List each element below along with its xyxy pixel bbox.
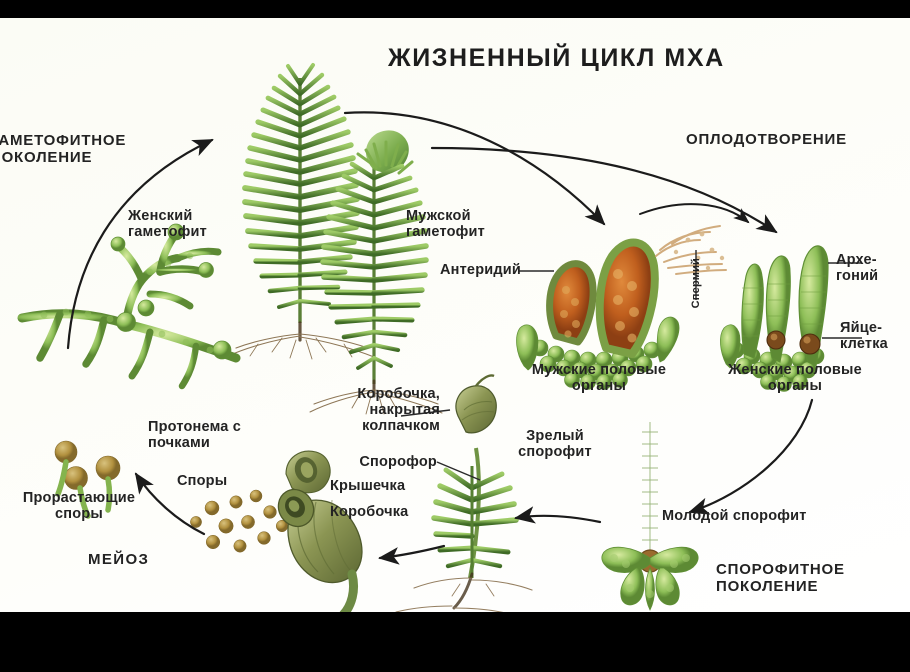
sporangium-capsule — [272, 451, 362, 612]
arrow-protonema-to-female-gametophyte — [68, 140, 212, 348]
label-capsule: Коробочка — [330, 504, 408, 520]
egg-cell-left — [767, 331, 785, 349]
label-antheridium: Антеридий — [440, 262, 521, 278]
label-protonema-with-buds: Протонема с почками — [148, 419, 241, 451]
antheridium-center — [600, 243, 655, 354]
arrow-mature-sporophyte-to-capsule — [380, 546, 444, 558]
label-germinating-spores: Прорастающие споры — [4, 490, 154, 522]
label-mature-sporophyte: Зрелый спорофит — [500, 428, 610, 460]
protonema — [22, 224, 236, 386]
egg-cell-right — [800, 334, 820, 354]
operculum-lid — [286, 451, 330, 493]
diagram-canvas: ЖИЗНЕННЫЙ ЦИКЛ МХА ГАМЕТОФИТНОЕ ПОКОЛЕНИ… — [0, 18, 910, 612]
label-female-gametophyte: Женский гаметофит — [128, 208, 207, 240]
label-operculum: Крышечка — [330, 478, 405, 494]
label-young-sporophyte: Молодой спорофит — [662, 508, 807, 524]
heading-gametophyte-generation: ГАМЕТОФИТНОЕ ПОКОЛЕНИЕ — [0, 133, 126, 167]
archegonium-right — [799, 246, 828, 366]
label-egg-cell: Яйце- клетка — [840, 320, 888, 352]
archegonium-left — [742, 264, 764, 358]
arrow-young-to-mature-sporophyte — [516, 516, 600, 522]
heading-fertilization: ОПЛОДОТВОРЕНИЕ — [686, 132, 847, 149]
heading-sporophyte-generation: СПОРОФИТНОЕ ПОКОЛЕНИЕ — [716, 562, 845, 596]
page-title: ЖИЗНЕННЫЙ ЦИКЛ МХА — [388, 44, 725, 72]
spore-scatter — [190, 490, 291, 552]
arrow-female-organs-to-young-sporophyte — [690, 400, 812, 512]
capsule-with-calyptra — [456, 375, 496, 432]
label-spores: Споры — [177, 473, 227, 489]
label-male-sex-organs: Мужские половые органы — [504, 362, 694, 394]
arrow-layer — [68, 112, 812, 558]
label-female-sex-organs: Женские половые органы — [700, 362, 890, 394]
label-male-gametophyte: Мужской гаметофит — [406, 208, 485, 240]
letterbox-top — [0, 0, 910, 18]
antheridium — [550, 264, 593, 342]
screenshot-root: ЖИЗНЕННЫЙ ЦИКЛ МХА ГАМЕТОФИТНОЕ ПОКОЛЕНИ… — [0, 0, 910, 672]
label-archegonium: Архе- гоний — [836, 252, 878, 284]
label-sperm: Спермий — [690, 258, 702, 308]
label-sporophore: Спорофор — [337, 454, 437, 470]
arrow-sperm-to-archegonium — [640, 204, 748, 222]
heading-meiosis: МЕЙОЗ — [88, 552, 149, 569]
label-capsule-with-calyptra: Коробочка, накрытая колпачком — [320, 386, 440, 435]
archegonium-mid — [766, 256, 790, 362]
antheridial-splash-cup — [358, 130, 412, 174]
leader-sporophore — [437, 462, 480, 480]
female-gametophyte-plant — [228, 60, 374, 359]
letterbox-bottom — [0, 612, 910, 672]
male-gametophyte-plant — [310, 130, 442, 414]
